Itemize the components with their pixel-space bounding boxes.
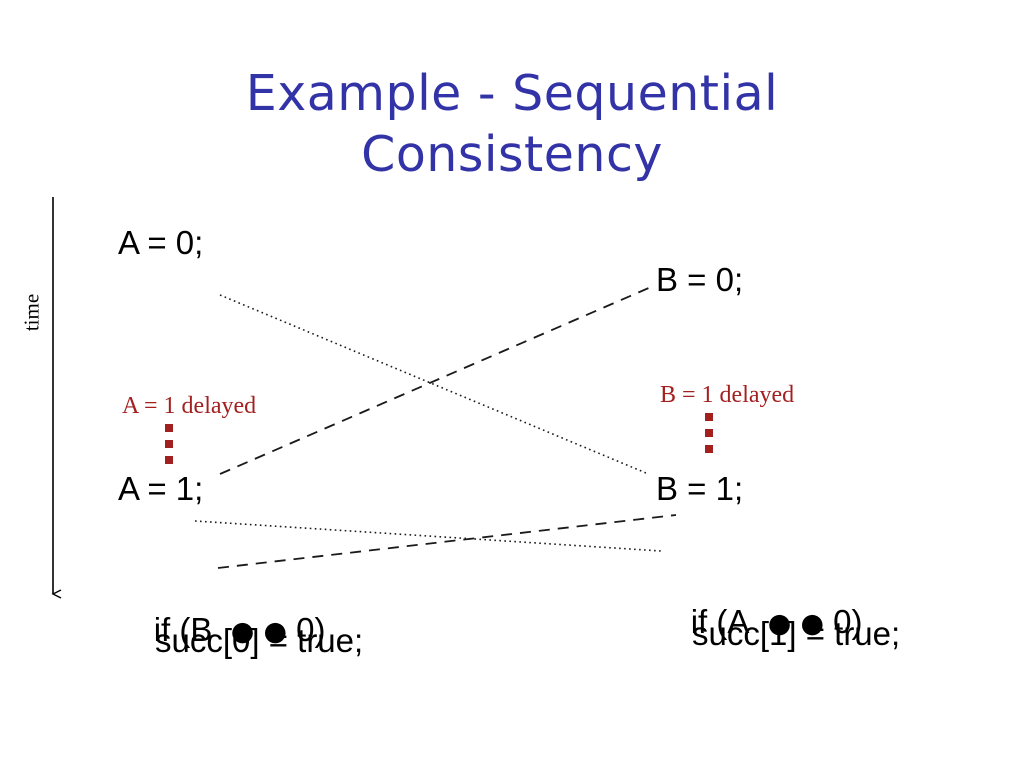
time-axis-arrow <box>0 180 110 620</box>
left-delay-dot-2 <box>165 440 173 448</box>
right-statement-b-equals-1: B = 1; <box>656 470 743 508</box>
connector-b1-to-ifB <box>218 515 676 568</box>
right-delay-dot-3 <box>705 445 713 453</box>
right-delay-dot-2 <box>705 429 713 437</box>
slide-canvas: Example - Sequential Consistency time A … <box>0 0 1024 768</box>
time-axis-label: time <box>20 273 45 353</box>
right-delayed-note: B = 1 delayed <box>660 382 794 409</box>
right-statement-b-equals-0: B = 0; <box>656 261 743 299</box>
page-title: Example - Sequential Consistency <box>160 64 864 186</box>
page-title-line-1: Example - Sequential <box>160 64 864 125</box>
left-delayed-note: A = 1 delayed <box>122 393 256 420</box>
left-delay-dot-1 <box>165 424 173 432</box>
left-statement-a-equals-0: A = 0; <box>118 224 203 262</box>
right-delay-dot-1 <box>705 413 713 421</box>
right-delay-dots <box>705 413 713 453</box>
connector-b0-to-a1 <box>220 287 651 474</box>
left-if-body: succ[0] = true; <box>155 622 363 660</box>
connector-a1-to-ifA <box>195 521 661 551</box>
right-if-body: succ[1] = true; <box>692 615 900 653</box>
left-statement-a-equals-1: A = 1; <box>118 470 203 508</box>
left-delay-dot-3 <box>165 456 173 464</box>
page-title-line-2: Consistency <box>160 125 864 186</box>
connector-a0-to-b1 <box>220 295 646 473</box>
left-delay-dots <box>165 424 173 464</box>
